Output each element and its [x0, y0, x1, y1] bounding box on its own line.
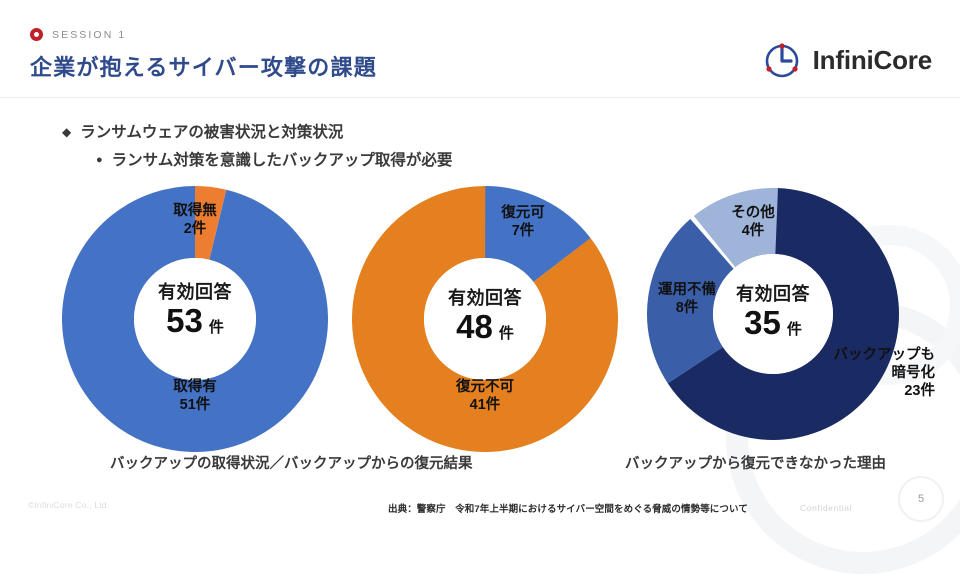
infinicore-logo-icon	[760, 38, 804, 82]
copyright-text: ©InfiniCore Co., Ltd.	[28, 500, 109, 510]
donut3-label-ops-failure: 運用不備 8件	[637, 281, 737, 317]
slide-header: SESSION 1 企業が抱えるサイバー攻撃の課題 InfiniCore	[0, 0, 960, 98]
donut1-label-has-name: 取得有	[62, 378, 328, 396]
bullet-level2: ● ランサム対策を意識したバックアップ取得が必要	[96, 148, 452, 170]
bullet-level2-text: ランサム対策を意識したバックアップ取得が必要	[112, 148, 453, 170]
donut2-label-restorable: 復元可 7件	[468, 204, 578, 240]
caption-left: バックアップの取得状況／バックアップからの復元結果	[110, 452, 473, 473]
bullet-list: ◆ ランサムウェアの被害状況と対策状況 ● ランサム対策を意識したバックアップ取…	[62, 120, 452, 170]
donut2-label-not-restorable: 復元不可 41件	[352, 378, 618, 414]
charts-row: 有効回答 53 件 取得無 2件 取得有 51件 有効回答 48	[0, 182, 960, 452]
donut1-label-none-value: 2件	[62, 220, 328, 238]
bullet-level1: ◆ ランサムウェアの被害状況と対策状況	[62, 120, 452, 142]
donut1-label-none-name: 取得無	[62, 202, 328, 220]
brand-name: InfiniCore	[813, 45, 932, 76]
donut3-label-other: その他 4件	[703, 204, 803, 240]
bullet-level1-text: ランサムウェアの被害状況と対策状況	[80, 120, 343, 142]
session-eyebrow: SESSION 1	[30, 28, 126, 41]
page-title: 企業が抱えるサイバー攻撃の課題	[30, 50, 377, 82]
header-divider	[0, 97, 960, 98]
brand-logo: InfiniCore	[760, 38, 932, 82]
red-ring-icon	[30, 28, 43, 41]
donut3-label-other-value: 4件	[703, 222, 803, 240]
donut3-label-encrypted-name: バックアップも	[785, 346, 935, 364]
donut2-label-not-restorable-value: 41件	[352, 396, 618, 414]
donut3-label-encrypted: バックアップも 暗号化 23件	[785, 346, 935, 400]
donut-chart-restore-result: 有効回答 48 件 復元可 7件 復元不可 41件	[352, 186, 618, 452]
donut3-label-ops-failure-name: 運用不備	[637, 281, 737, 299]
donut1-label-has-value: 51件	[62, 396, 328, 414]
donut-chart-failure-reason: 有効回答 35 件 その他 4件 運用不備 8件 バックアップも 暗号化 23件	[645, 186, 901, 442]
caption-right: バックアップから復元できなかった理由	[625, 452, 886, 473]
donut-chart-backup-status: 有効回答 53 件 取得無 2件 取得有 51件	[62, 186, 328, 452]
donut3-label-encrypted-name2: 暗号化	[785, 364, 935, 382]
donut3-label-ops-failure-value: 8件	[637, 299, 737, 317]
donut2-label-restorable-name: 復元可	[468, 204, 578, 222]
donut2-label-not-restorable-name: 復元不可	[352, 378, 618, 396]
session-label: SESSION 1	[52, 29, 126, 41]
donut1-label-none: 取得無 2件	[62, 202, 328, 238]
dot-bullet-icon: ●	[96, 155, 103, 166]
donut1-label-has: 取得有 51件	[62, 378, 328, 414]
diamond-bullet-icon: ◆	[62, 126, 71, 138]
donut2-label-restorable-value: 7件	[468, 222, 578, 240]
donut3-label-other-name: その他	[703, 204, 803, 222]
donut3-label-encrypted-value: 23件	[785, 382, 935, 400]
source-attribution: 出典：警察庁 令和7年上半期におけるサイバー空間をめぐる脅威の情勢等について	[388, 501, 748, 515]
